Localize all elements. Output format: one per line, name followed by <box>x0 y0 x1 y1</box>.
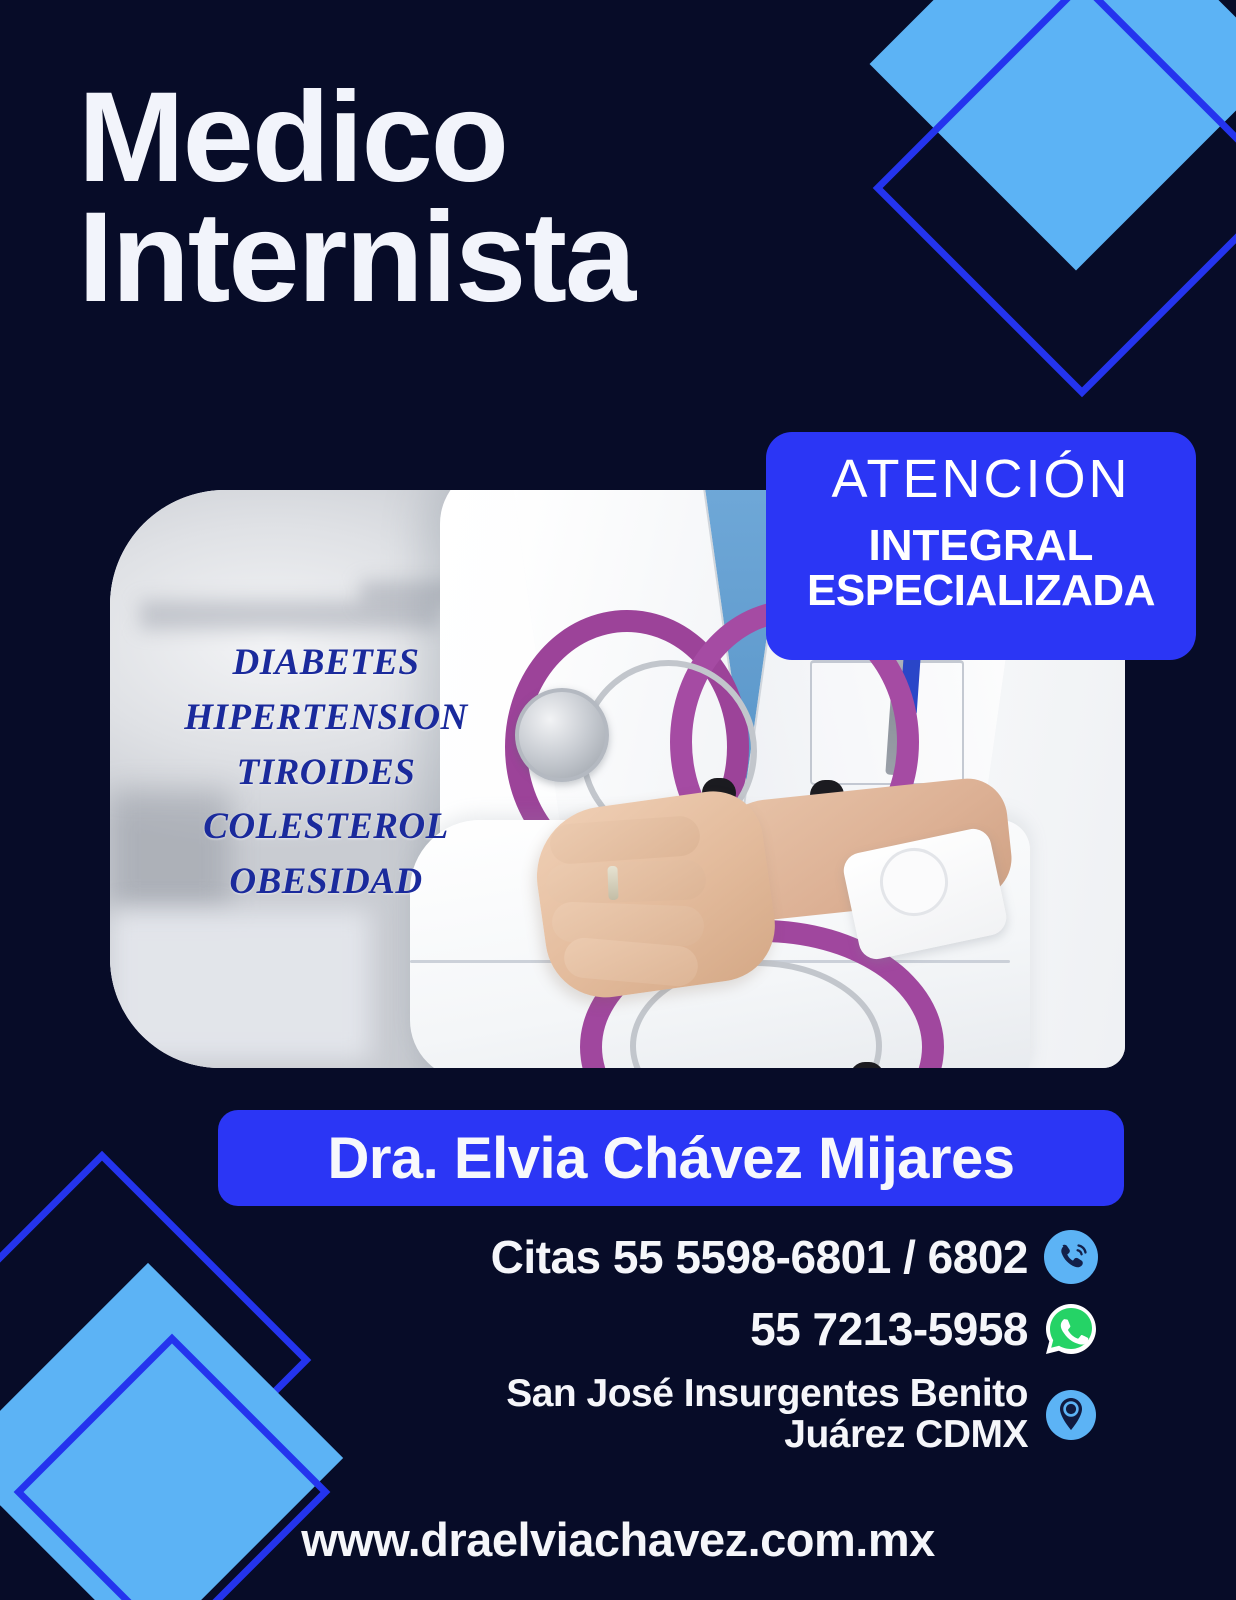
condition-item-obesidad: OBESIDAD <box>126 855 526 910</box>
page-title: Medico Internista <box>78 78 898 319</box>
doctor-name-text: Dra. Elvia Chávez Mijares <box>327 1125 1014 1192</box>
address-text: San José Insurgentes Benito Juárez CDMX <box>506 1374 1028 1455</box>
location-pin-icon[interactable] <box>1042 1386 1100 1444</box>
badge-line-atencion: ATENCIÓN <box>782 450 1180 508</box>
doctor-name-banner: Dra. Elvia Chávez Mijares <box>218 1110 1124 1206</box>
website-url[interactable]: www.draelviachavez.com.mx <box>0 1512 1236 1567</box>
phone-number-text: Citas 55 5598-6801 / 6802 <box>491 1230 1028 1284</box>
badge-line-especializada: ESPECIALIZADA <box>782 569 1180 614</box>
conditions-list: DIABETES HIPERTENSION TIROIDES COLESTERO… <box>126 636 526 910</box>
whatsapp-number-text: 55 7213-5958 <box>750 1302 1028 1356</box>
stethoscope-chest-piece <box>515 688 609 782</box>
attention-badge: ATENCIÓN INTEGRAL ESPECIALIZADA <box>766 432 1196 660</box>
condition-item-colesterol: COLESTEROL <box>126 800 526 855</box>
whatsapp-icon[interactable] <box>1042 1300 1100 1358</box>
condition-item-tiroides: TIROIDES <box>126 746 526 801</box>
title-line-2: Internista <box>78 198 898 318</box>
condition-item-diabetes: DIABETES <box>126 636 526 691</box>
badge-line-integral: INTEGRAL <box>782 524 1180 569</box>
contact-block: Citas 55 5598-6801 / 6802 55 7213-5958 S… <box>200 1228 1100 1455</box>
doctor-finger <box>545 859 706 905</box>
condition-item-hipertension: HIPERTENSION <box>126 691 526 746</box>
address-line-2: Juárez CDMX <box>506 1415 1028 1456</box>
background-blur-counter <box>110 910 370 1060</box>
contact-row-whatsapp[interactable]: 55 7213-5958 <box>200 1300 1100 1358</box>
contact-row-phone[interactable]: Citas 55 5598-6801 / 6802 <box>200 1228 1100 1286</box>
contact-row-address[interactable]: San José Insurgentes Benito Juárez CDMX <box>200 1374 1100 1455</box>
phone-icon[interactable] <box>1042 1228 1100 1286</box>
doctor-ring <box>607 866 618 900</box>
address-line-1: San José Insurgentes Benito <box>506 1374 1028 1415</box>
poster-root: Medico Internista <box>0 0 1236 1600</box>
